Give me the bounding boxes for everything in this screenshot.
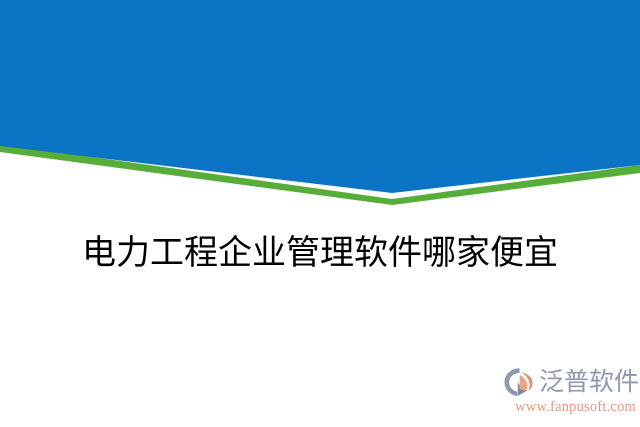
slide-canvas: 电力工程企业管理软件哪家便宜 泛普软件 www.fanpusoft.com [0, 0, 640, 427]
fanpu-swoosh-icon [503, 367, 537, 397]
brand-logo: 泛普软件 www.fanpusoft.com [503, 366, 636, 418]
brand-logo-row: 泛普软件 [503, 366, 636, 398]
header-banner [0, 0, 640, 205]
brand-url: www.fanpusoft.com [503, 399, 636, 416]
page-title: 电力工程企业管理软件哪家便宜 [0, 232, 640, 276]
brand-wordmark: 泛普软件 [539, 367, 639, 397]
